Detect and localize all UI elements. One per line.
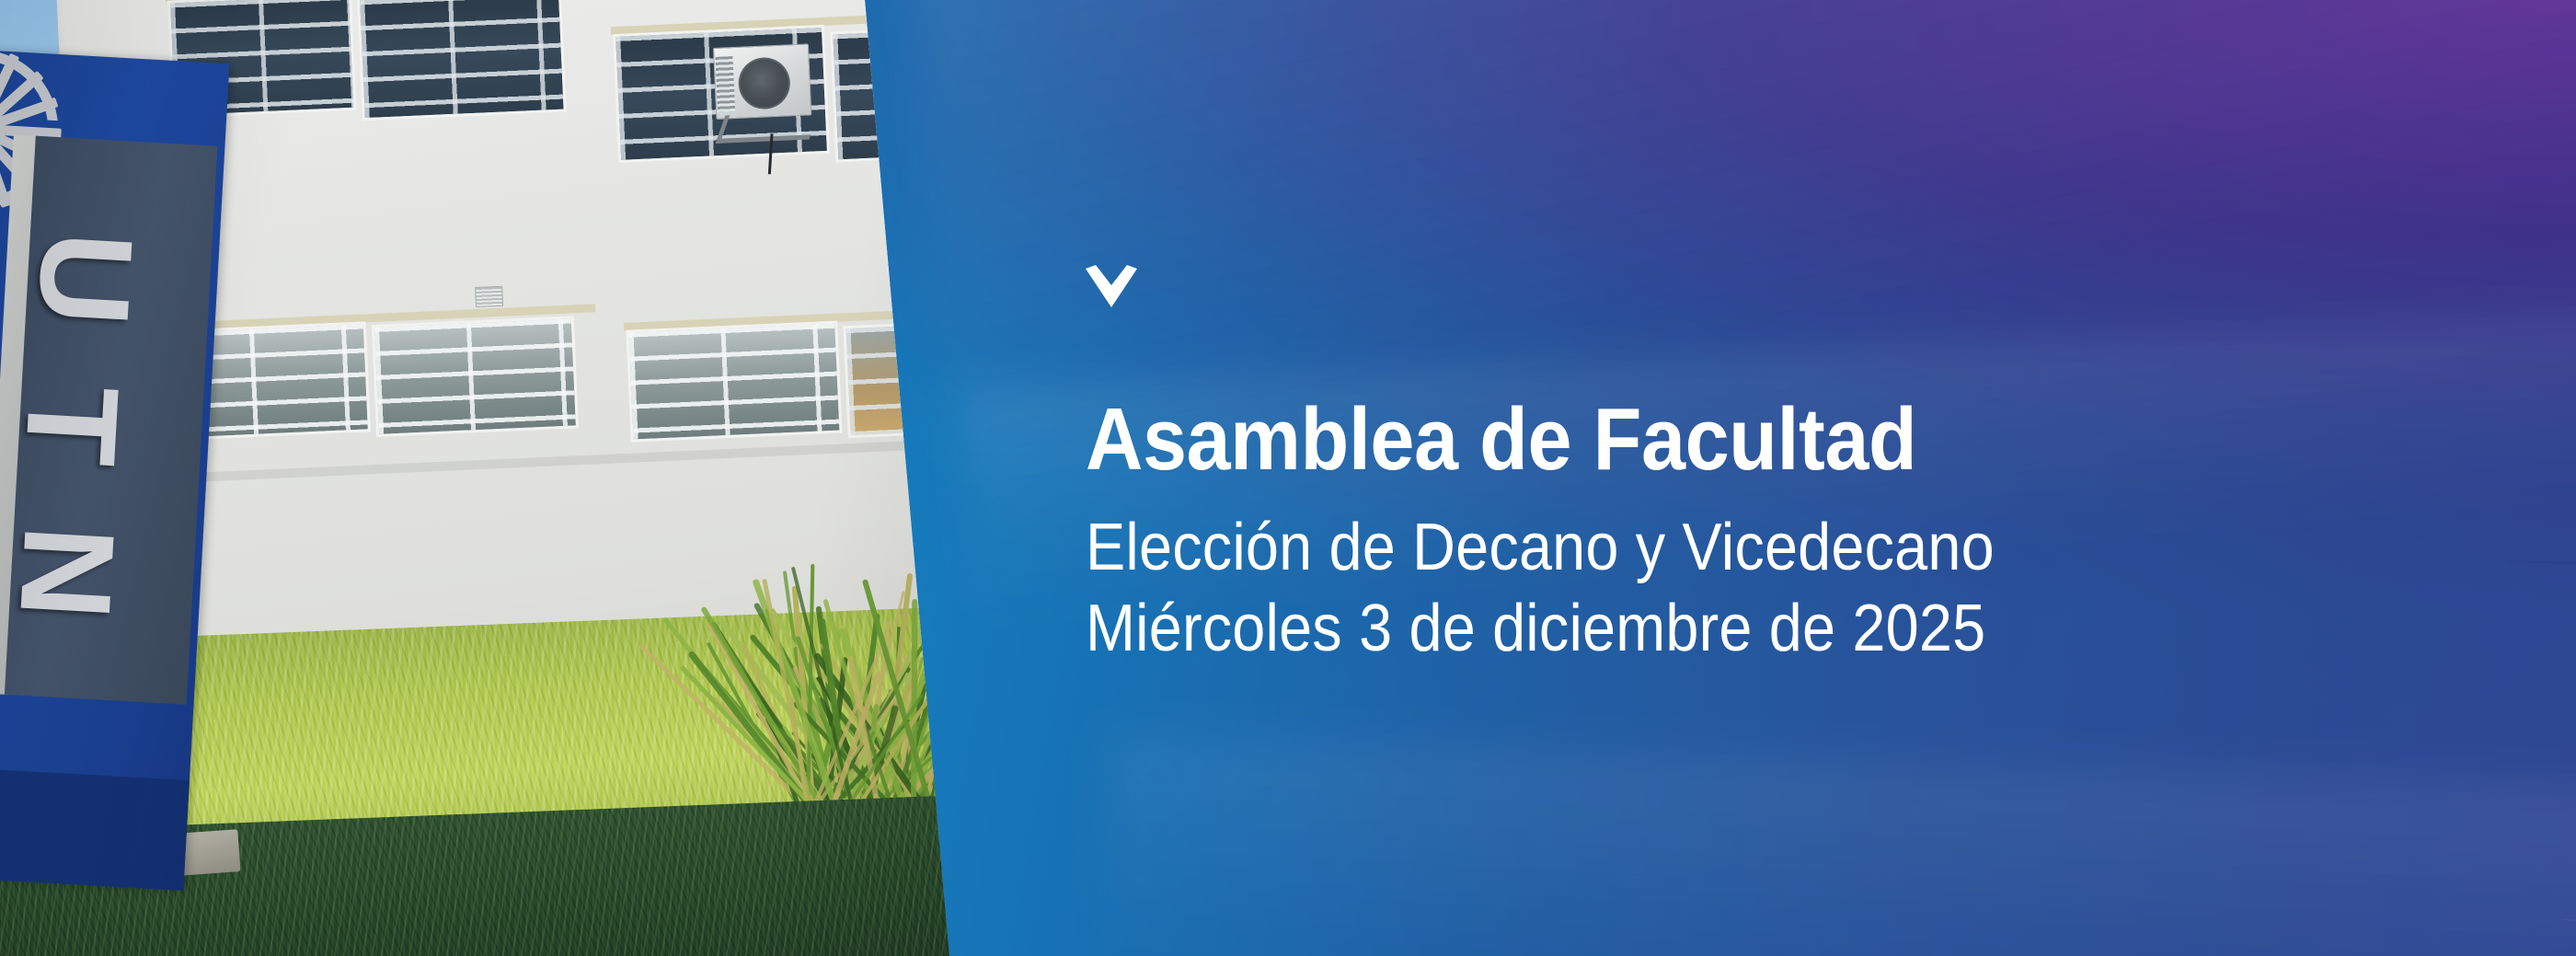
chevron-down-icon <box>1086 265 1137 307</box>
sign-base <box>0 765 190 891</box>
subtitle-line-2: Miércoles 3 de diciembre de 2025 <box>1086 589 2261 670</box>
facade-band <box>78 432 961 488</box>
campus-photo: U T N <box>0 0 961 956</box>
sign-letter-n: N <box>0 523 133 619</box>
fabric-sheen-bottom <box>1099 736 2576 956</box>
sign-letter-u: U <box>18 229 152 326</box>
window-lower-3 <box>626 321 842 443</box>
ac-grille <box>715 56 735 112</box>
asamblea-hero-banner: U T N Asamblea de Facultad Elección de D… <box>0 0 2576 956</box>
banner-text-block: Asamblea de Facultad Elección de Decano … <box>1086 265 2392 670</box>
sign-letter-t: T <box>6 383 138 465</box>
window-lower-2 <box>372 316 579 437</box>
page-title: Asamblea de Facultad <box>1086 396 2261 484</box>
ac-condenser-icon <box>713 43 811 120</box>
window-upper-2 <box>357 0 567 121</box>
ac-bracket <box>716 111 820 144</box>
wall-vent <box>475 286 503 307</box>
subtitle-line-1: Elección de Decano y Vicedecano <box>1086 508 2261 589</box>
banner-subtitle: Elección de Decano y Vicedecano Miércole… <box>1086 508 2392 670</box>
